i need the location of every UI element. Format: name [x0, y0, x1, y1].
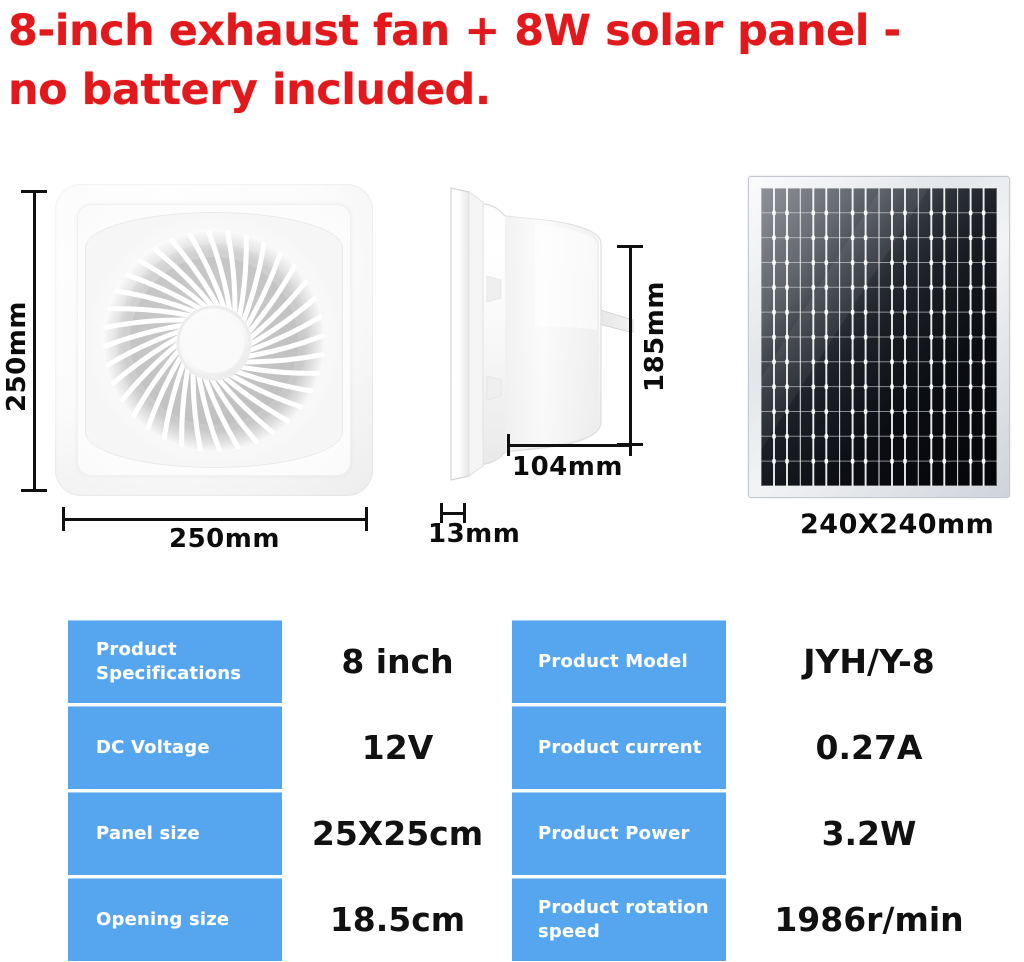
spec-column-right: Product ModelJYH/Y-8Product current0.27A… — [512, 620, 1012, 960]
fan-grille-svg — [98, 225, 330, 457]
spec-row: Product rotationspeed1986r/min — [512, 878, 1012, 961]
spec-label-cell: Panel size — [68, 792, 282, 875]
spec-label-text: Product Power — [538, 822, 690, 845]
spec-label-cell: Product current — [512, 706, 726, 789]
spec-label-cell: Opening size — [68, 878, 282, 961]
fan-side-body-depth-dim-cap-right — [629, 434, 632, 456]
spec-value-cell: 18.5cm — [282, 878, 513, 961]
spec-label-cell: ProductSpecifications — [68, 620, 282, 703]
spec-row: Product Power3.2W — [512, 792, 1012, 875]
fan-grille — [98, 225, 330, 457]
fan-front-height-dim-line — [33, 190, 36, 492]
solar-panel-cells — [761, 188, 997, 486]
spec-row: Product current0.27A — [512, 706, 1012, 789]
fan-side-body-depth-dim-line — [507, 444, 631, 447]
spec-label-text: Product Model — [538, 650, 688, 673]
fan-side-depth-dim-cap-top — [617, 245, 643, 248]
spec-label-cell: Product Power — [512, 792, 726, 875]
fan-front-width-dim-cap-right — [365, 507, 368, 531]
spec-row: Opening size18.5cm — [68, 878, 513, 961]
fan-front-height-label: 250mm — [2, 301, 32, 412]
spec-label-cell: Product Model — [512, 620, 726, 703]
spec-value-cell: 12V — [282, 706, 513, 789]
spec-label-text: Product rotationspeed — [538, 896, 709, 942]
spec-label-text: Product current — [538, 736, 702, 759]
spec-row: ProductSpecifications8 inch — [68, 620, 513, 703]
spec-row: Product ModelJYH/Y-8 — [512, 620, 1012, 703]
spec-value-cell: 3.2W — [726, 792, 1012, 875]
spec-label-text: Opening size — [96, 908, 229, 931]
exhaust-fan-front-image — [55, 184, 373, 496]
page-title: 8-inch exhaust fan + 8W solar panel - no… — [8, 2, 1018, 121]
fan-side-depth-label: 185mm — [640, 281, 670, 392]
solar-cell-grid-svg — [761, 188, 997, 486]
spec-value-cell: 8 inch — [282, 620, 513, 703]
title-line-2: no battery included. — [8, 65, 491, 115]
product-infographic-page: 8-inch exhaust fan + 8W solar panel - no… — [0, 0, 1024, 962]
spec-value-cell: 25X25cm — [282, 792, 513, 875]
spec-label-text: DC Voltage — [96, 736, 210, 759]
spec-value-cell: 0.27A — [726, 706, 1012, 789]
spec-label-cell: Product rotationspeed — [512, 878, 726, 961]
fan-front-width-dim-cap-left — [62, 507, 65, 531]
fan-side-body-depth-dim-cap-left — [507, 434, 510, 456]
spec-value-cell: 1986r/min — [726, 878, 1012, 961]
spec-row: DC Voltage12V — [68, 706, 513, 789]
fan-front-width-dim-line — [62, 518, 367, 521]
solar-panel-size-label: 240X240mm — [800, 509, 994, 540]
spec-label-text: ProductSpecifications — [96, 638, 241, 684]
fan-front-width-label: 250mm — [169, 524, 280, 554]
title-line-1: 8-inch exhaust fan + 8W solar panel - — [8, 6, 901, 56]
spec-value-cell: JYH/Y-8 — [726, 620, 1012, 703]
fan-side-flange-label: 13mm — [428, 519, 520, 549]
specification-table: ProductSpecifications8 inchDC Voltage12V… — [0, 620, 1024, 960]
fan-side-depth-dim-line — [629, 245, 632, 445]
spec-label-text: Panel size — [96, 822, 200, 845]
fan-side-body-depth-label: 104mm — [512, 452, 623, 482]
fan-front-height-dim-cap-top — [21, 190, 47, 193]
solar-panel-image — [748, 176, 1010, 498]
spec-label-cell: DC Voltage — [68, 706, 282, 789]
spec-column-left: ProductSpecifications8 inchDC Voltage12V… — [68, 620, 513, 960]
fan-front-height-dim-cap-bottom — [21, 489, 47, 492]
spec-row: Panel size25X25cm — [68, 792, 513, 875]
